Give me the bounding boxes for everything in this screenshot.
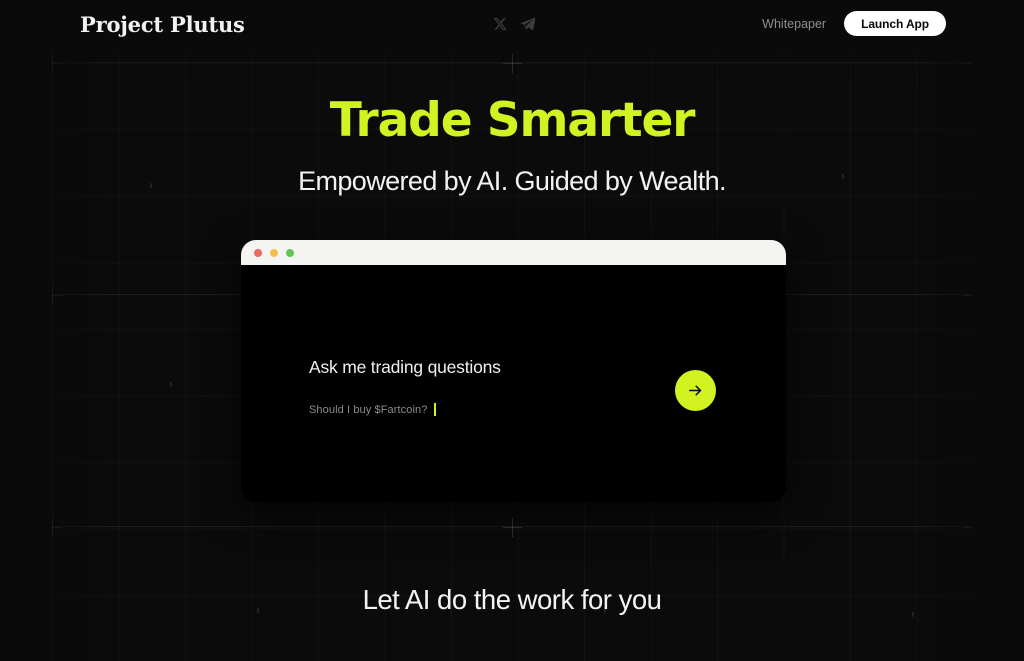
- x-twitter-icon[interactable]: [491, 15, 508, 32]
- window-maximize-dot[interactable]: [286, 249, 294, 257]
- header-nav: Whitepaper Launch App: [762, 11, 946, 36]
- chat-heading: Ask me trading questions: [309, 357, 501, 378]
- window-minimize-dot[interactable]: [270, 249, 278, 257]
- social-links: [491, 15, 536, 32]
- grid-crosshair: [52, 518, 62, 537]
- telegram-icon[interactable]: [519, 15, 536, 32]
- landing-page: Project Plutus Whitepaper Launch App Tra…: [0, 0, 1024, 661]
- nav-link-whitepaper[interactable]: Whitepaper: [762, 17, 826, 31]
- mockup-body: Ask me trading questions Should I buy $F…: [241, 265, 786, 502]
- grid-crosshair: [503, 54, 522, 73]
- grid-crosshair: [963, 518, 972, 537]
- mockup-titlebar: [241, 240, 786, 265]
- site-header: Project Plutus Whitepaper Launch App: [0, 0, 1024, 52]
- section-heading: Let AI do the work for you: [0, 584, 1024, 616]
- grid-crosshair: [503, 518, 522, 537]
- grid-crosshair: [963, 54, 972, 73]
- arrow-right-icon: [687, 382, 704, 399]
- hero-section: Trade Smarter Empowered by AI. Guided by…: [0, 96, 1024, 197]
- brand-logo[interactable]: Project Plutus: [80, 12, 245, 37]
- browser-mockup-card: Ask me trading questions Should I buy $F…: [241, 240, 786, 502]
- grid-crosshair: [963, 286, 972, 305]
- window-close-dot[interactable]: [254, 249, 262, 257]
- grid-crosshair: [52, 286, 62, 305]
- background-speck: [170, 382, 172, 387]
- chat-input-row[interactable]: Should I buy $Fartcoin?: [309, 403, 436, 416]
- chat-input-value: Should I buy $Fartcoin?: [309, 404, 427, 416]
- hero-subtitle: Empowered by AI. Guided by Wealth.: [0, 166, 1024, 197]
- chat-submit-button[interactable]: [675, 370, 716, 411]
- launch-app-button[interactable]: Launch App: [844, 11, 946, 36]
- text-caret: [434, 403, 436, 416]
- hero-title: Trade Smarter: [0, 96, 1024, 146]
- grid-crosshair: [52, 54, 62, 73]
